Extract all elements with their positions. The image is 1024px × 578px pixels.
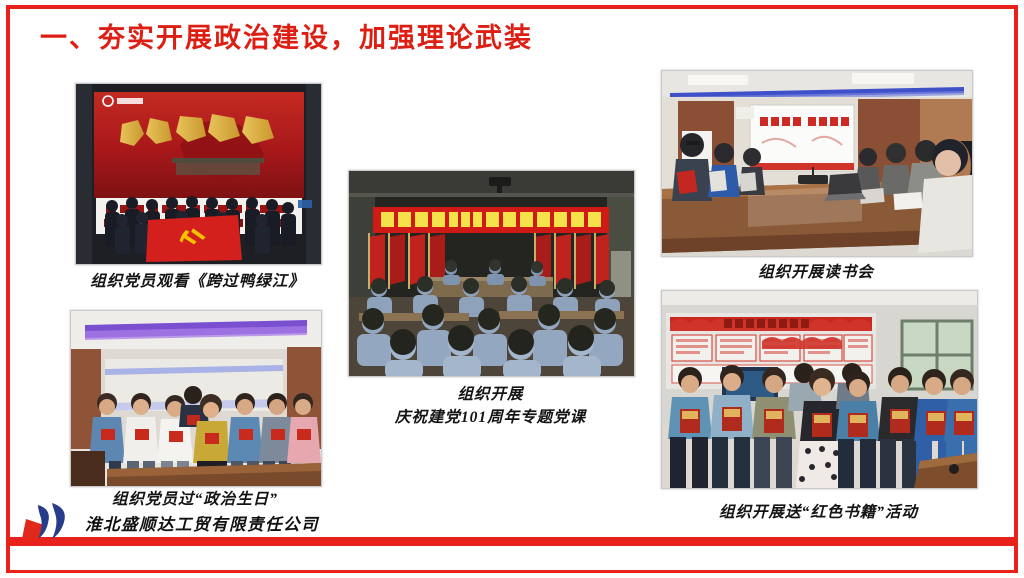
slide-border-top [6, 5, 1018, 9]
caption-lecture-hall-line2: 庆祝建党101周年专题党课 [348, 406, 633, 429]
photo-book-donation [661, 290, 978, 489]
photo-cinema-screening [75, 83, 322, 265]
photo-reading-session-graphic [662, 71, 972, 256]
caption-political-birthday: 组织党员过“政治生日” [55, 488, 335, 511]
caption-reading-session: 组织开展读书会 [661, 261, 971, 284]
photo-reading-session [661, 70, 973, 257]
photo-lecture-hall [348, 170, 635, 377]
photo-political-birthday [70, 310, 322, 487]
caption-cinema-screening: 组织党员观看《跨过鸭绿江》 [60, 270, 335, 293]
slide-border-left [6, 5, 10, 573]
shengshunda-logo-graphic [18, 503, 80, 541]
photo-cinema-screening-graphic [76, 84, 321, 264]
photo-book-donation-graphic [662, 291, 977, 488]
photo-lecture-hall-graphic [349, 171, 634, 376]
company-logo [18, 503, 80, 541]
slide-canvas: 一、夯实开展政治建设，加强理论武装 [0, 0, 1024, 578]
caption-lecture-hall: 组织开展 庆祝建党101周年专题党课 [348, 383, 633, 430]
slide-title: 一、夯实开展政治建设，加强理论武装 [40, 22, 533, 54]
footer-divider-bar [10, 537, 1014, 546]
slide-border-bottom [6, 570, 1018, 573]
slide-border-right [1014, 5, 1018, 573]
caption-lecture-hall-line1: 组织开展 [348, 383, 633, 406]
photo-political-birthday-graphic [71, 311, 321, 486]
caption-book-donation: 组织开展送“红色书籍”活动 [661, 501, 976, 524]
company-name: 淮北盛顺达工贸有限责任公司 [85, 511, 319, 535]
